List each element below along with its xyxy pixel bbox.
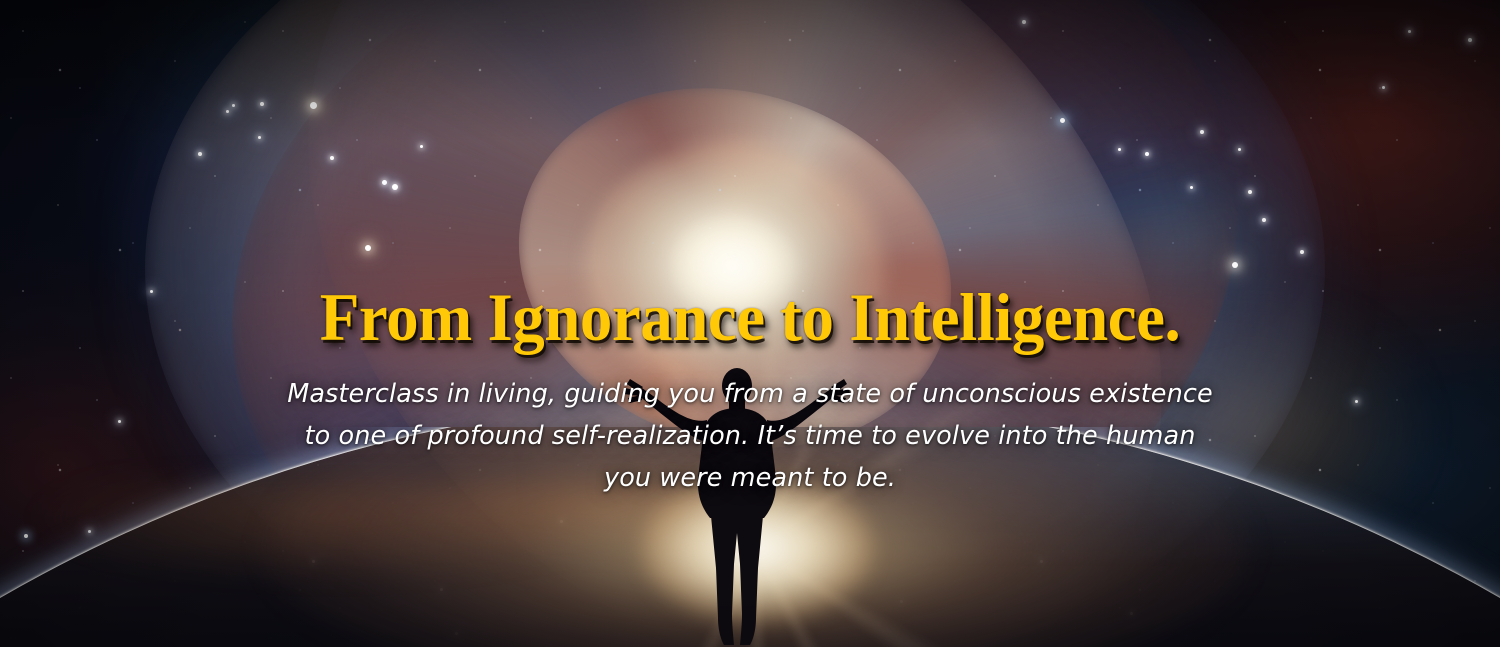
hero-copy: From Ignorance to Intelligence. Mastercl… xyxy=(0,283,1500,499)
subtitle-line-1: Masterclass in living, guiding you from … xyxy=(235,373,1265,415)
subtitle-line-3: you were meant to be. xyxy=(235,457,1265,499)
hero-subtitle: Masterclass in living, guiding you from … xyxy=(235,373,1265,499)
subtitle-line-2: to one of profound self-realization. It’… xyxy=(235,415,1265,457)
page-title: From Ignorance to Intelligence. xyxy=(34,283,1467,351)
hero-banner: From Ignorance to Intelligence. Mastercl… xyxy=(0,0,1500,647)
